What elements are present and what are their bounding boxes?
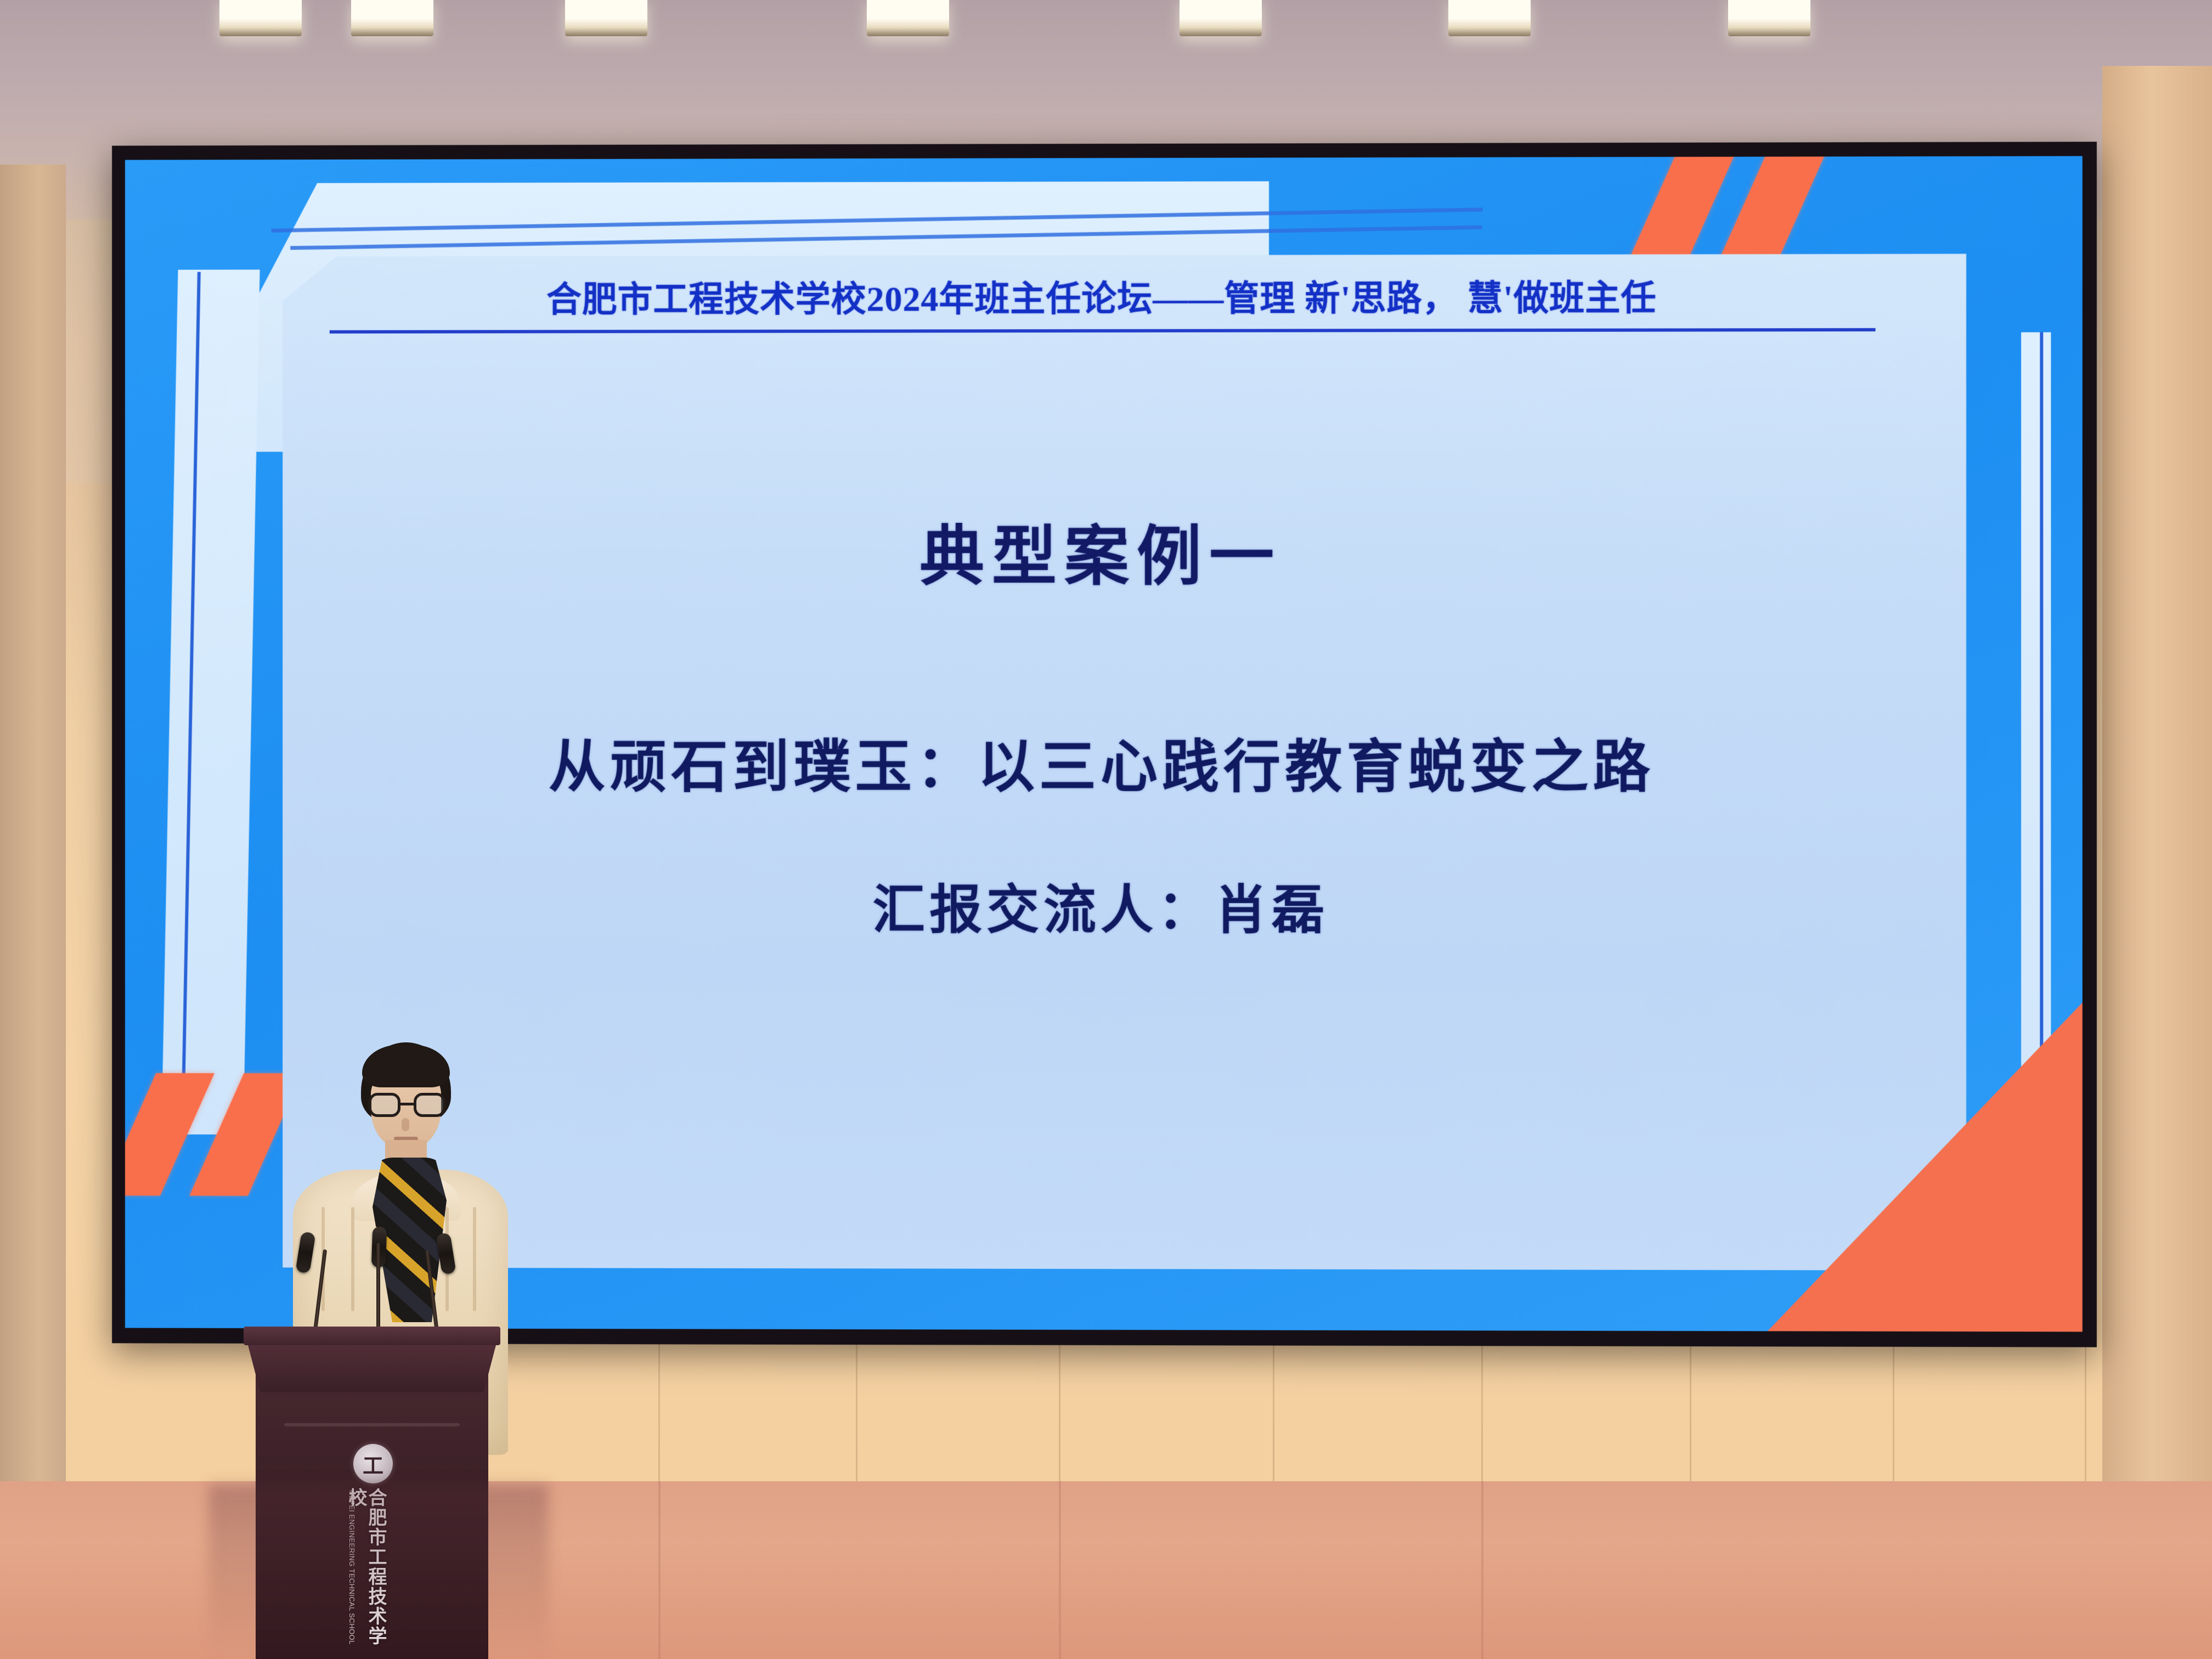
glasses-lens-right xyxy=(414,1093,445,1117)
podium-groove xyxy=(284,1423,460,1426)
slide-presenter-line: 汇报交流人：肖磊 xyxy=(125,867,2083,944)
slide-header-text: 合肥市工程技术学校2024年班主任论坛——管理 新'思路， 慧'做班主任 xyxy=(300,269,1905,322)
glasses-icon xyxy=(369,1093,445,1117)
ceiling-light xyxy=(1728,0,1810,36)
podium-top-edge xyxy=(244,1327,500,1345)
speaker-fringe xyxy=(362,1045,450,1087)
ceiling-light xyxy=(1180,0,1262,36)
podium-floor-reflection xyxy=(208,1485,549,1659)
coat-fold xyxy=(473,1207,476,1311)
slide-case-label: 典型案例一 xyxy=(125,503,2083,598)
ceiling-light xyxy=(351,0,433,36)
left-pillar xyxy=(0,165,66,1481)
ceiling-light xyxy=(867,0,949,36)
glasses-lens-left xyxy=(369,1093,400,1117)
podium-shelf xyxy=(248,1345,496,1392)
coat-fold xyxy=(351,1207,354,1311)
decorative-side-strip-left xyxy=(161,269,259,1134)
ceiling-light xyxy=(1448,0,1531,36)
school-emblem-icon: 工 xyxy=(353,1444,393,1483)
slide-main-title: 从顽石到璞玉：以三心践行教育蜕变之路 xyxy=(125,720,2083,803)
microphone-head xyxy=(295,1231,315,1273)
screenshot-root: 合肥市工程技术学校2024年班主任论坛——管理 新'思路， 慧'做班主任 典型案… xyxy=(0,0,2212,1659)
microphone-head xyxy=(436,1232,456,1274)
ceiling-light xyxy=(565,0,647,36)
ceiling-light xyxy=(219,0,302,36)
glasses-bridge xyxy=(400,1103,414,1105)
speaker-nose xyxy=(402,1118,409,1131)
right-pillar xyxy=(2102,66,2212,1492)
